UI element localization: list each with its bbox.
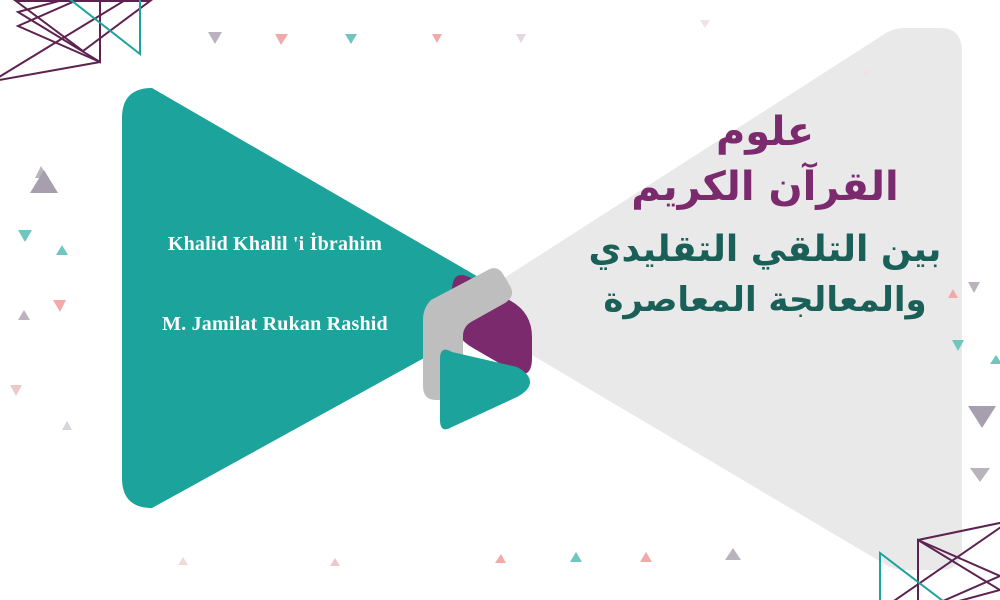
title-line-1: علوم (550, 108, 980, 157)
author-name-1: Khalid Khalil 'i İbrahim (120, 232, 430, 256)
outline-triangle-br-purple (875, 518, 1000, 600)
title-line-2: القرآن الكريم (550, 163, 980, 212)
outline-triangle-tl-purple (0, 0, 150, 85)
book-cover: Khalid Khalil 'i İbrahim M. Jamilat Ruka… (0, 0, 1000, 600)
author-block: Khalid Khalil 'i İbrahim M. Jamilat Ruka… (120, 232, 430, 336)
title-line-4: والمعالجة المعاصرة (550, 280, 980, 321)
book-title: علوم القرآن الكريم بين التلقي التقليدي و… (550, 108, 980, 321)
outline-triangle-br-teal (880, 553, 960, 600)
title-line-3: بين التلقي التقليدي (550, 228, 980, 272)
author-name-2: M. Jamilat Rukan Rashid (120, 312, 430, 336)
